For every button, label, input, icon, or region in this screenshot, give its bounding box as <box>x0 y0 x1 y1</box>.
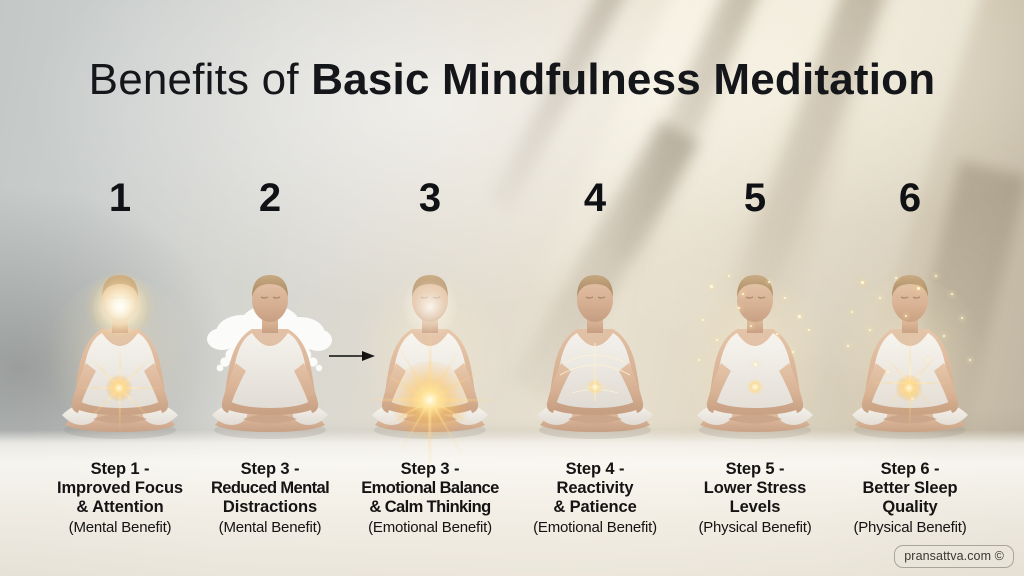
benefit-column-4: 4 <box>511 175 679 575</box>
caption-line-3: Distractions <box>180 498 360 517</box>
caption-line-2: Better Sleep <box>820 479 1000 498</box>
caption-benefit-type: (Mental Benefit) <box>180 518 360 538</box>
caption-step: Step 5 - <box>665 460 845 479</box>
benefit-caption: Step 3 - Emotional Balance & Calm Thinki… <box>340 460 520 538</box>
caption-line-2: Reduced Mental <box>180 479 360 498</box>
title-lead: Benefits of <box>89 55 312 104</box>
caption-line-2: Reactivity <box>505 479 685 498</box>
caption-step: Step 6 - <box>820 460 1000 479</box>
title-emphasis: Basic Mindfulness Meditation <box>311 55 935 104</box>
caption-benefit-type: (Emotional Benefit) <box>505 518 685 538</box>
meditating-woman-silhouette-icon <box>520 267 670 447</box>
meditating-figure <box>520 267 670 447</box>
meditating-woman-silhouette-icon <box>195 267 345 447</box>
meditating-figure <box>195 267 345 447</box>
benefit-column-5: 5 <box>671 175 839 575</box>
benefit-caption: Step 6 - Better Sleep Quality (Physical … <box>820 460 1000 538</box>
caption-line-3: Quality <box>820 498 1000 517</box>
benefit-column-3: 3 <box>346 175 514 575</box>
caption-line-2: Emotional Balance <box>340 479 520 498</box>
infographic-poster: Benefits of Basic Mindfulness Meditation… <box>0 0 1024 576</box>
step-number: 2 <box>186 175 354 221</box>
caption-line-3: & Patience <box>505 498 685 517</box>
meditating-figure <box>45 267 195 447</box>
meditating-figure <box>680 267 830 447</box>
benefit-column-2: 2 <box>186 175 354 575</box>
meditating-figure <box>355 267 505 447</box>
step-number: 6 <box>826 175 994 221</box>
page-title: Benefits of Basic Mindfulness Meditation <box>0 52 1024 108</box>
benefit-column-1: 1 <box>36 175 204 575</box>
caption-line-2: Lower Stress <box>665 479 845 498</box>
step-number: 3 <box>346 175 514 221</box>
benefit-caption: Step 3 - Reduced Mental Distractions (Me… <box>180 460 360 538</box>
benefit-caption: Step 5 - Lower Stress Levels (Physical B… <box>665 460 845 538</box>
caption-benefit-type: (Physical Benefit) <box>820 518 1000 538</box>
step-number: 5 <box>671 175 839 221</box>
caption-step: Step 3 - <box>180 460 360 479</box>
sparkle-particles <box>680 267 830 447</box>
benefit-column-6: 6 <box>826 175 994 575</box>
step-number: 1 <box>36 175 204 221</box>
step-number: 4 <box>511 175 679 221</box>
benefit-caption: Step 4 - Reactivity & Patience (Emotiona… <box>505 460 685 538</box>
caption-step: Step 4 - <box>505 460 685 479</box>
caption-benefit-type: (Physical Benefit) <box>665 518 845 538</box>
watermark: pransattva.com © <box>894 545 1014 568</box>
caption-line-3: Levels <box>665 498 845 517</box>
caption-step: Step 3 - <box>340 460 520 479</box>
caption-line-3: & Calm Thinking <box>340 498 520 517</box>
meditating-figure <box>835 267 985 447</box>
caption-benefit-type: (Emotional Benefit) <box>340 518 520 538</box>
